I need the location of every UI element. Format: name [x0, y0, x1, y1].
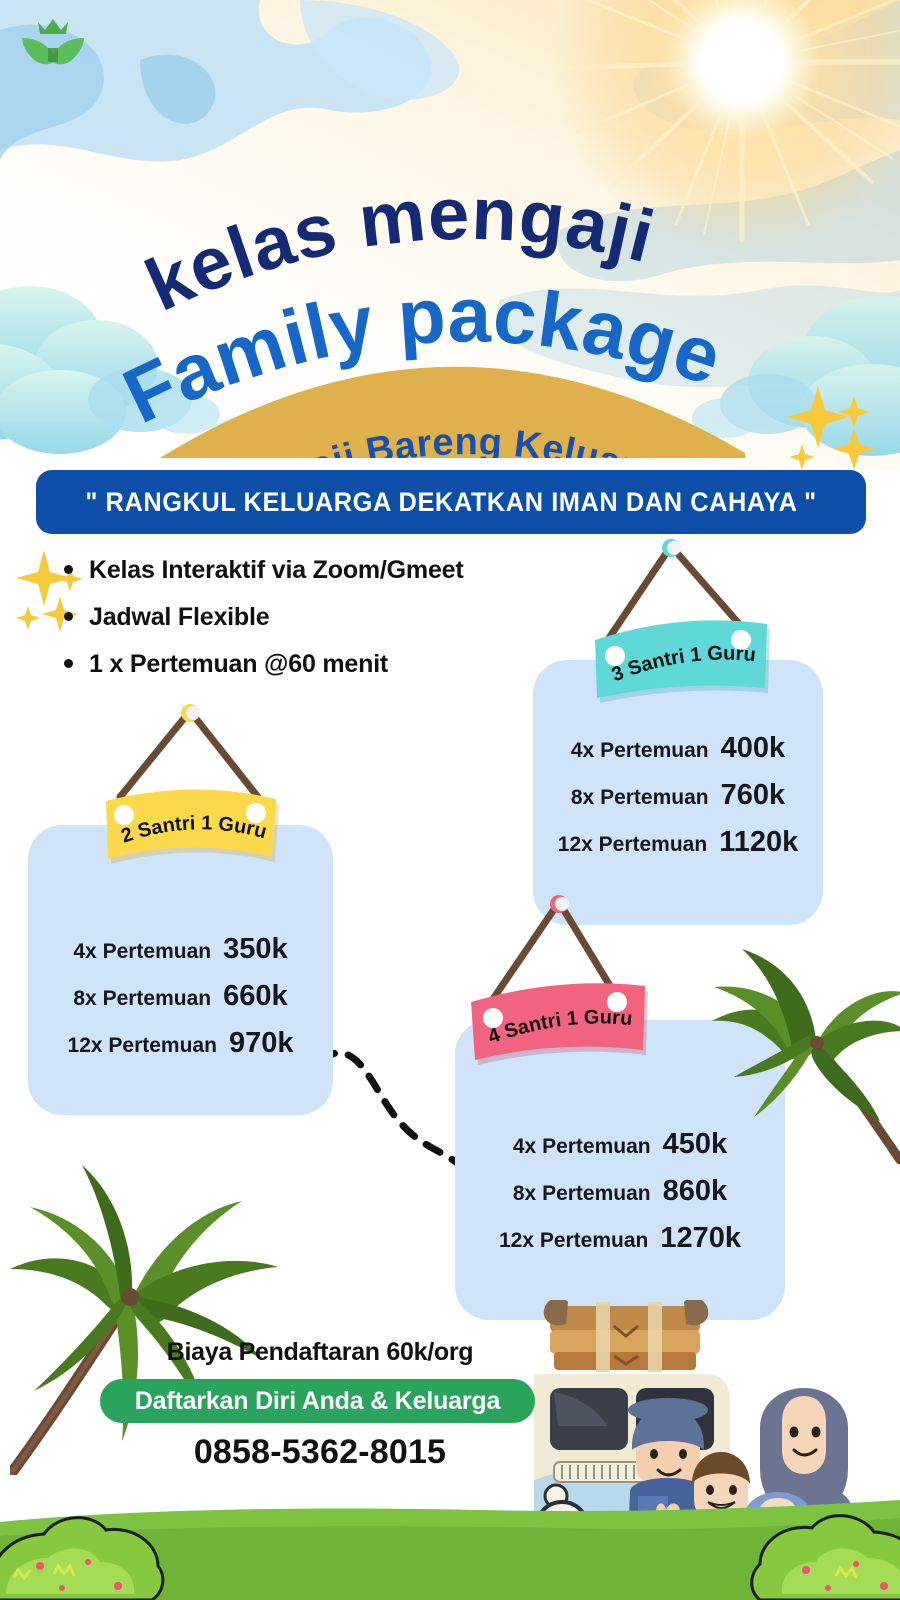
price-value: 760k — [721, 779, 786, 812]
phone-number[interactable]: 0858-5362-8015 — [100, 1433, 540, 1472]
feature-label: Jadwal Flexible — [89, 603, 269, 632]
package-card-3-santri: 3 Santri 1 Guru 4x Pertemuan 400k 8x Per… — [533, 660, 823, 925]
price-row: 12x Pertemuan 1120k — [533, 826, 823, 859]
package-tag-3-santri: 3 Santri 1 Guru — [551, 542, 811, 692]
bullet-icon — [64, 565, 73, 574]
bullet-icon — [64, 612, 73, 621]
sparkle-icon — [780, 378, 890, 473]
price-row: 8x Pertemuan 860k — [455, 1175, 785, 1208]
price-value: 860k — [663, 1175, 728, 1208]
package-card-2-santri: 2 Santri 1 Guru 4x Pertemuan 350k 8x Per… — [28, 825, 333, 1115]
price-value: 1120k — [719, 826, 798, 859]
price-row: 8x Pertemuan 760k — [533, 779, 823, 812]
package-tag-2-santri: 2 Santri 1 Guru — [62, 705, 322, 855]
price-label: 8x Pertemuan — [513, 1182, 651, 1206]
price-row: 4x Pertemuan 400k — [533, 732, 823, 765]
cta-section: Biaya Pendaftaran 60k/org Daftarkan Diri… — [100, 1338, 540, 1472]
price-row: 12x Pertemuan 1270k — [455, 1222, 785, 1255]
price-row: 12x Pertemuan 970k — [28, 1027, 333, 1060]
grass-background — [0, 1470, 900, 1600]
feature-item: Kelas Interaktif via Zoom/Gmeet — [64, 556, 624, 585]
price-label: 4x Pertemuan — [73, 940, 211, 964]
feature-label: 1 x Pertemuan @60 menit — [89, 650, 388, 679]
quote-banner: " RANGKUL KELUARGA DEKATKAN IMAN DAN CAH… — [36, 470, 866, 534]
feature-label: Kelas Interaktif via Zoom/Gmeet — [89, 556, 463, 585]
title-block: kelas mengaji Family package Mengaji Bar… — [0, 128, 900, 458]
price-value: 970k — [229, 1027, 294, 1060]
price-value: 660k — [223, 980, 288, 1013]
price-rows: 4x Pertemuan 350k 8x Pertemuan 660k 12x … — [28, 933, 333, 1074]
price-row: 4x Pertemuan 350k — [28, 933, 333, 966]
poster-root: kelas mengaji Family package Mengaji Bar… — [0, 0, 900, 1600]
price-label: 8x Pertemuan — [73, 987, 211, 1011]
palm-tree-icon — [690, 935, 900, 1165]
registration-fee-text: Biaya Pendaftaran 60k/org — [100, 1338, 540, 1367]
feature-item: Jadwal Flexible — [64, 603, 624, 632]
price-rows: 4x Pertemuan 400k 8x Pertemuan 760k 12x … — [533, 732, 823, 873]
quote-text: " RANGKUL KELUARGA DEKATKAN IMAN DAN CAH… — [85, 487, 816, 518]
price-label: 12x Pertemuan — [68, 1034, 217, 1058]
price-value: 1270k — [660, 1222, 741, 1255]
price-label: 12x Pertemuan — [558, 833, 707, 857]
crown-leaf-logo-icon — [18, 8, 88, 76]
price-label: 4x Pertemuan — [513, 1135, 651, 1159]
register-button[interactable]: Daftarkan Diri Anda & Keluarga — [100, 1379, 535, 1423]
price-value: 350k — [223, 933, 288, 966]
price-label: 8x Pertemuan — [571, 786, 709, 810]
price-value: 400k — [721, 732, 786, 765]
price-row: 8x Pertemuan 660k — [28, 980, 333, 1013]
price-label: 12x Pertemuan — [499, 1229, 648, 1253]
price-label: 4x Pertemuan — [571, 739, 709, 763]
bullet-icon — [64, 659, 73, 668]
package-tag-4-santri: 4 Santri 1 Guru — [431, 898, 691, 1048]
